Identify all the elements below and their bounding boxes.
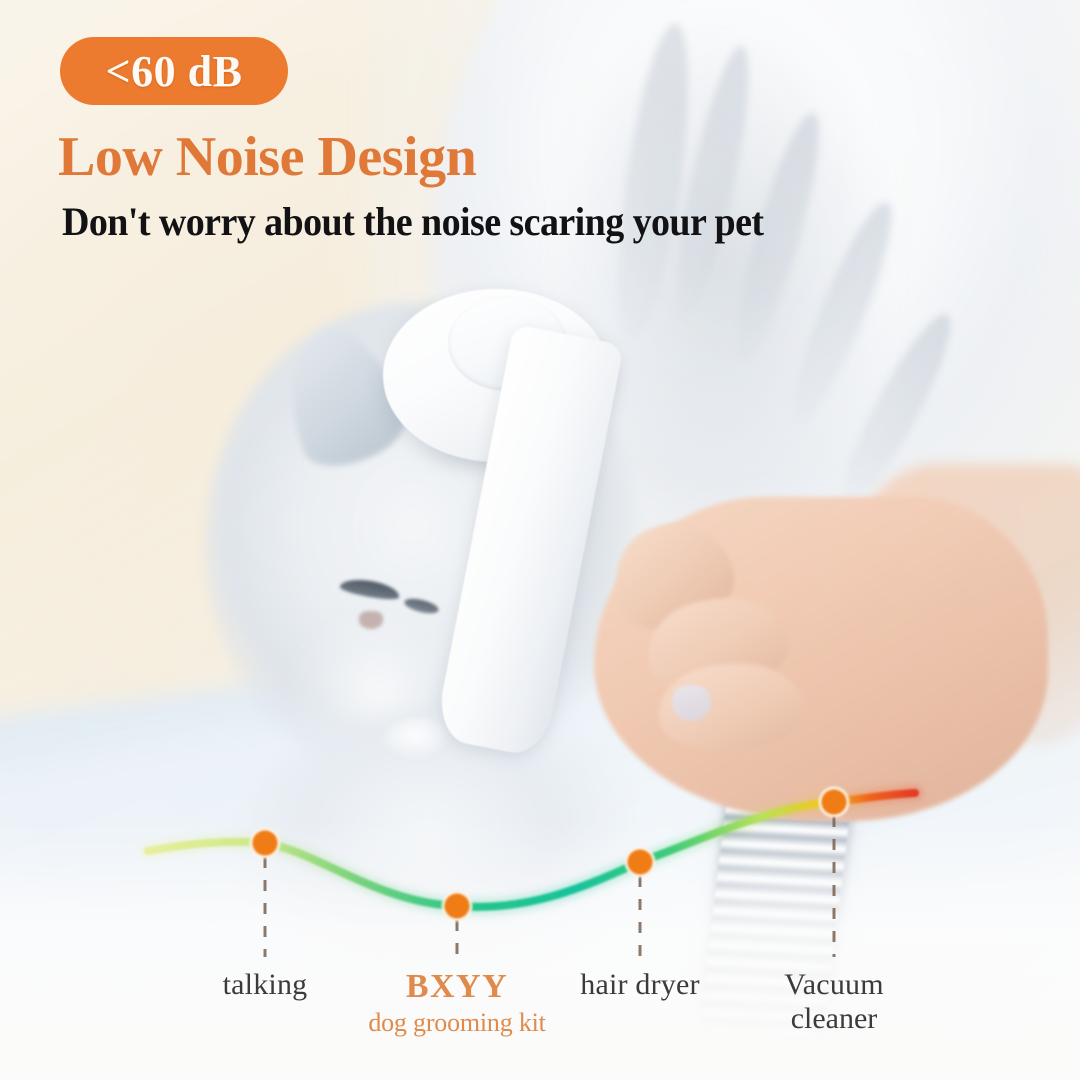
noise-level-badge: <60 dB — [60, 37, 288, 105]
page-subtitle: Don't worry about the noise scaring your… — [62, 198, 763, 245]
product-infographic: <60 dB Low Noise Design Don't worry abou… — [0, 0, 1080, 1080]
photo-bottom-wash — [0, 821, 1080, 1080]
noise-level-badge-label: <60 dB — [106, 46, 243, 97]
page-title: Low Noise Design — [58, 125, 476, 189]
